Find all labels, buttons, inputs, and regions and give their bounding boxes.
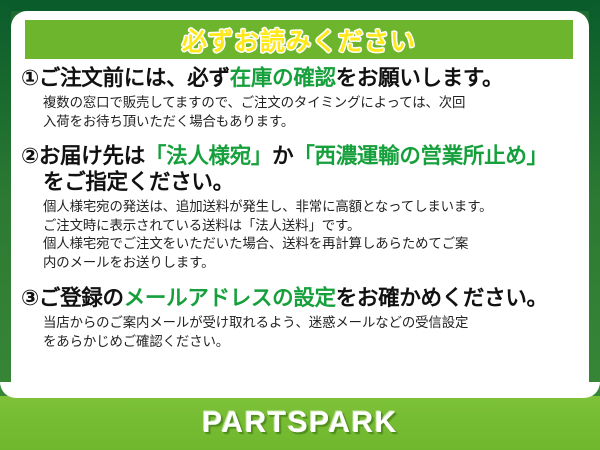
notice-section-3: ③ご登録のメールアドレスの設定をお確かめください。 当店からのご案内メールが受け…: [11, 286, 589, 351]
section-1-body: 複数の窓口で販売してますので、ご注文のタイミングによっては、次回 入荷をお待ち頂…: [21, 94, 581, 132]
section-3-heading: ③ご登録のメールアドレスの設定をお確かめください。: [21, 286, 581, 312]
section-3-body: 当店からのご案内メールが受け取れるよう、迷惑メールなどの受信設定 をあらかじめご…: [21, 314, 581, 352]
section-2-heading-part-3: か: [272, 144, 293, 168]
section-3-heading-part-3: をお確かめください。: [336, 286, 548, 310]
brand-footer: PARTSPARK: [0, 396, 600, 450]
notice-sections: ①ご注文前には、必ず在庫の確認をお願いします。 複数の窓口で販売してますので、ご…: [11, 66, 589, 358]
section-1-number: ①: [21, 66, 39, 90]
section-2-heading: ②お届け先は「法人様宛」か「西濃運輸の営業所止め」: [21, 144, 581, 170]
section-2-body: 個人様宅宛の発送は、追加送料が発生し、非常に高額となってしまいます。 ご注文時に…: [21, 198, 581, 273]
section-3-heading-highlight: メールアドレスの設定: [124, 286, 336, 310]
section-1-heading-highlight: 在庫の確認: [230, 66, 336, 90]
frame-top-border: [0, 0, 600, 11]
section-2-heading-part-1: お届け先は: [39, 144, 145, 168]
section-1-heading-part-1: ご注文前には、必ず: [39, 66, 230, 90]
notice-section-1: ①ご注文前には、必ず在庫の確認をお願いします。 複数の窓口で販売してますので、ご…: [11, 66, 589, 131]
section-3-number: ③: [21, 286, 39, 310]
section-2-number: ②: [21, 144, 39, 168]
section-2-heading-highlight-2: 「西濃運輸の営業所止め」: [293, 144, 547, 168]
brand-name: PARTSPARK: [202, 406, 398, 440]
section-3-heading-part-1: ご登録の: [39, 286, 124, 310]
notice-section-2: ②お届け先は「法人様宛」か「西濃運輸の営業所止め」 をご指定ください。 個人様宅…: [11, 144, 589, 273]
banner-title: 必ずお読みください: [182, 22, 416, 58]
notice-banner-image: 必ずお読みください ①ご注文前には、必ず在庫の確認をお願いします。 複数の窓口で…: [0, 0, 600, 450]
section-1-heading-part-3: をお願いします。: [336, 66, 503, 90]
banner-title-bar: 必ずお読みください: [25, 20, 573, 59]
section-2-heading-line2: をご指定ください。: [21, 170, 581, 196]
section-1-heading: ①ご注文前には、必ず在庫の確認をお願いします。: [21, 66, 581, 92]
section-2-heading-highlight-1: 「法人様宛」: [145, 144, 272, 168]
